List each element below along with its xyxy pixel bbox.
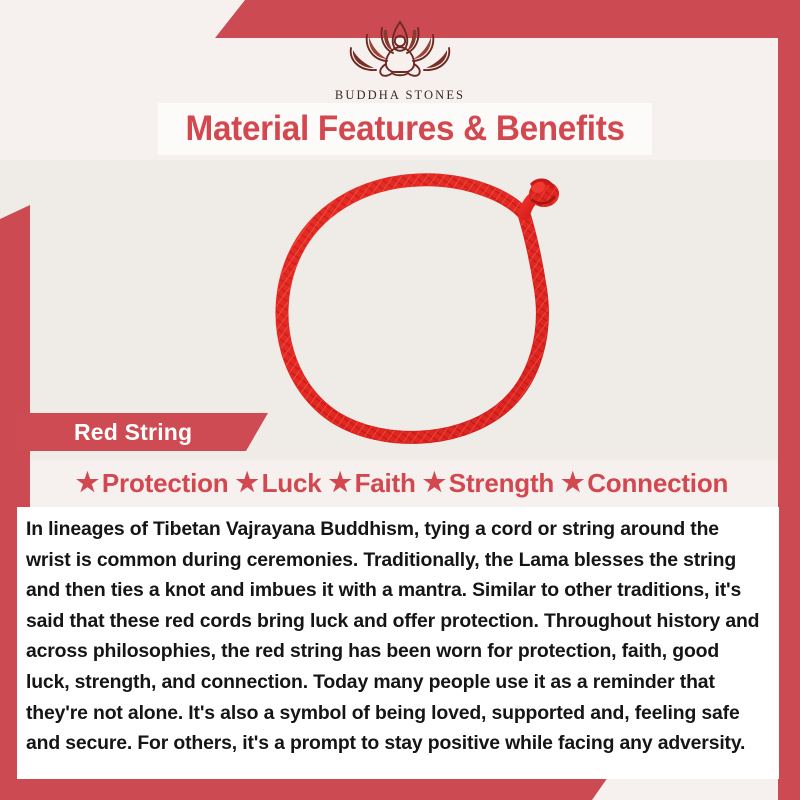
benefit-item: ★ Protection bbox=[76, 468, 229, 499]
header: BUDDHA STONES Material Features & Benefi… bbox=[0, 0, 800, 168]
benefit-label: Protection bbox=[102, 468, 229, 499]
star-icon: ★ bbox=[235, 469, 258, 495]
benefit-item: ★ Faith bbox=[328, 468, 415, 499]
benefits-list: ★ Protection ★ Luck ★ Faith ★ Strength ★… bbox=[30, 464, 774, 502]
description-text: In lineages of Tibetan Vajrayana Buddhis… bbox=[17, 507, 779, 759]
benefit-item: ★ Luck bbox=[235, 468, 321, 499]
description-plate: In lineages of Tibetan Vajrayana Buddhis… bbox=[17, 507, 779, 779]
bracelet-knot bbox=[529, 180, 559, 207]
page-title-plate: Material Features & Benefits bbox=[158, 103, 652, 155]
brand-logo: BUDDHA STONES bbox=[0, 14, 800, 103]
benefit-item: ★ Connection bbox=[561, 468, 728, 499]
star-icon: ★ bbox=[328, 469, 351, 495]
product-label: Red String bbox=[16, 419, 192, 446]
benefit-item: ★ Strength bbox=[423, 468, 554, 499]
star-icon: ★ bbox=[423, 469, 446, 495]
benefit-label: Connection bbox=[587, 468, 728, 499]
page-title: Material Features & Benefits bbox=[185, 109, 624, 149]
benefit-label: Strength bbox=[449, 468, 554, 499]
product-label-banner: Red String bbox=[16, 413, 268, 451]
brand-name: BUDDHA STONES bbox=[0, 88, 800, 103]
benefit-label: Luck bbox=[262, 468, 322, 499]
star-icon: ★ bbox=[561, 469, 584, 495]
lotus-meditation-icon bbox=[335, 14, 465, 86]
red-string-bracelet-image bbox=[232, 156, 572, 456]
poster-canvas: BUDDHA STONES Material Features & Benefi… bbox=[0, 0, 800, 800]
star-icon: ★ bbox=[76, 469, 99, 495]
benefit-label: Faith bbox=[355, 468, 416, 499]
